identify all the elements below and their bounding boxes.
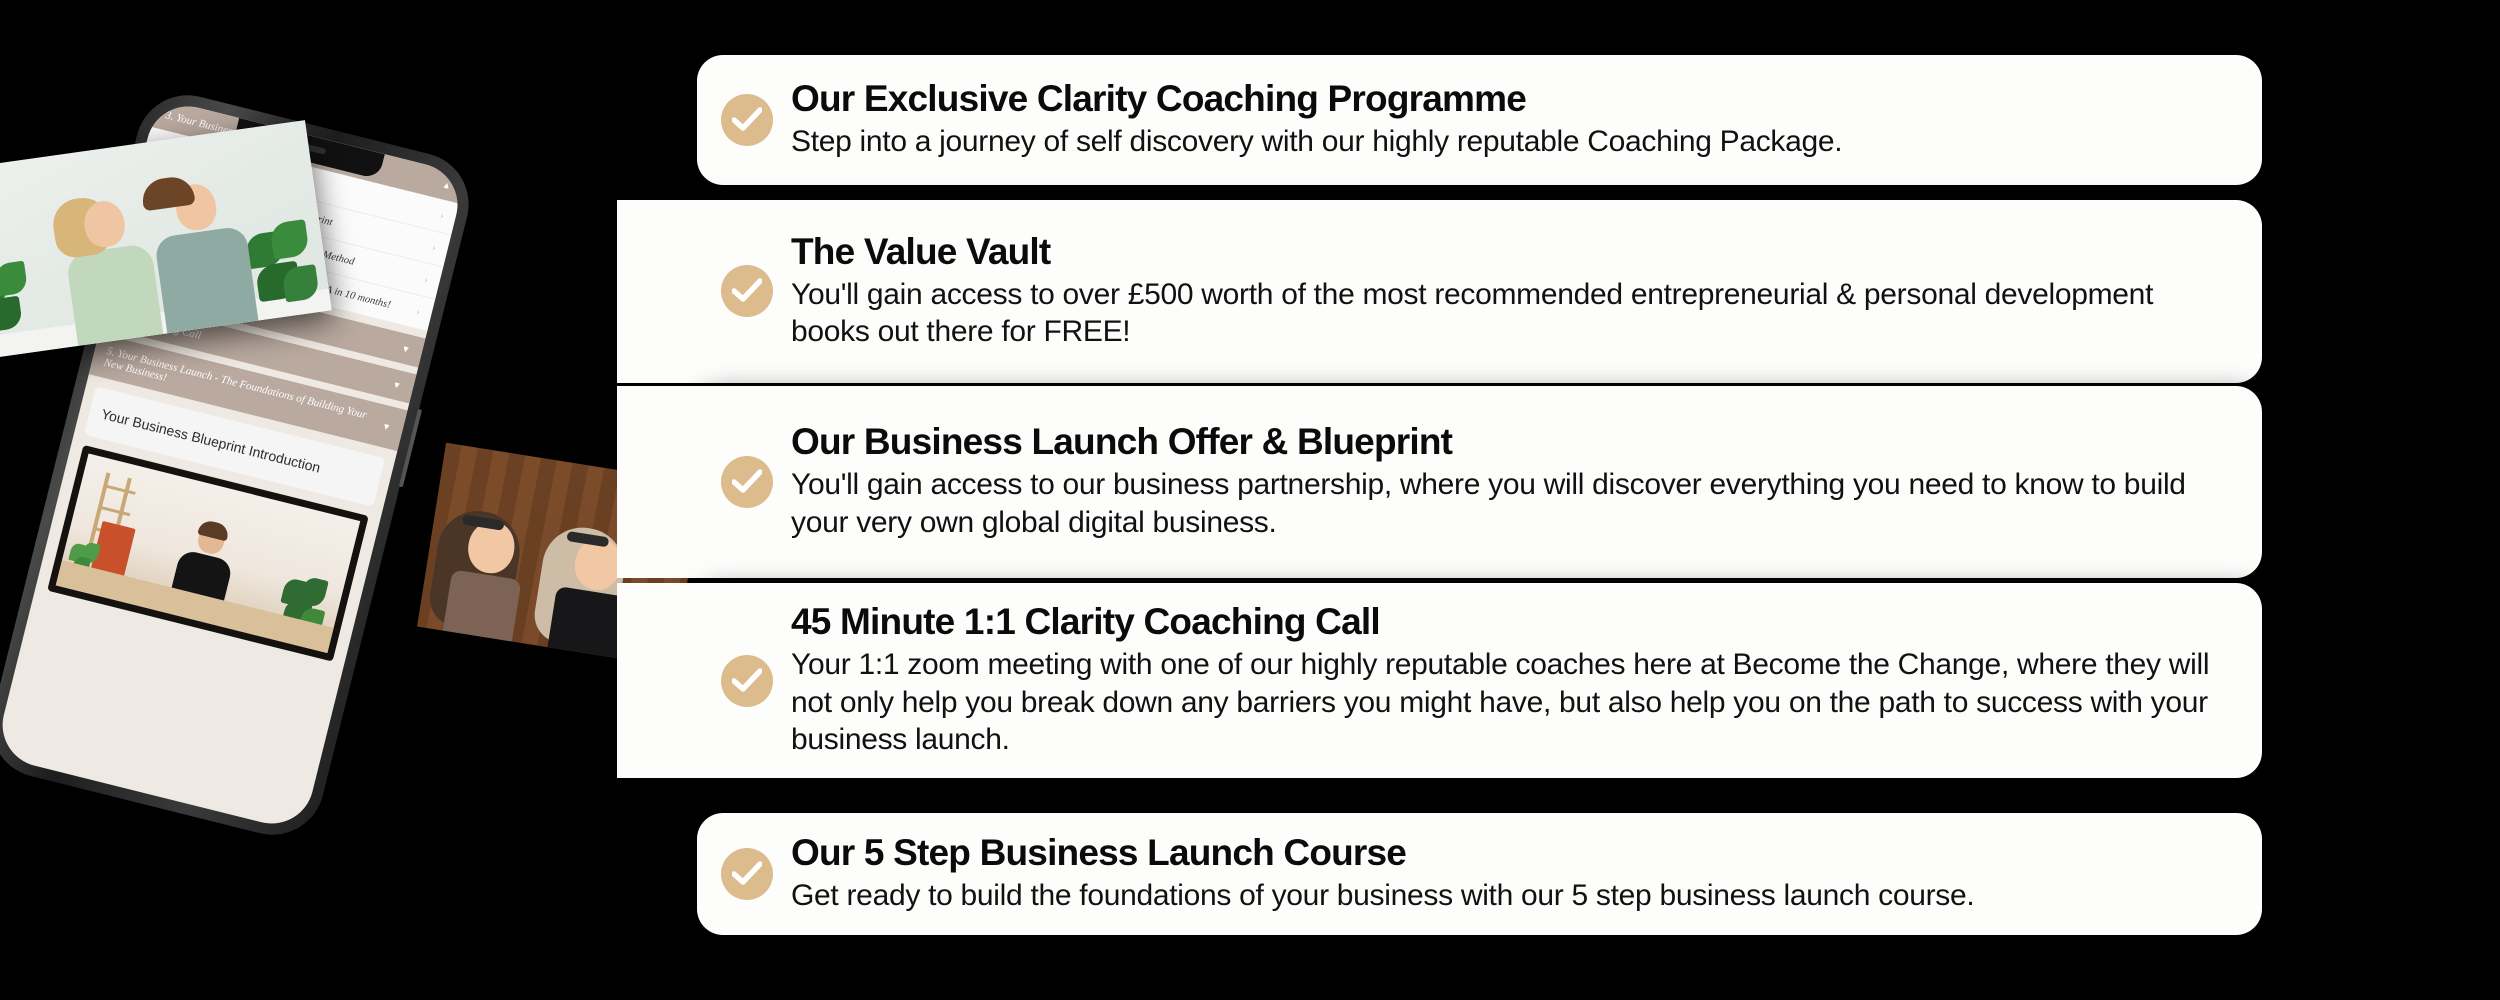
benefit-body: Get ready to build the foundations of yo… [791, 877, 1974, 915]
device-mockup-group: 3. Your Business Blueprint ▲ Introducing… [0, 0, 700, 1000]
benefit-card[interactable]: Our Business Launch Offer & Blueprint Yo… [697, 386, 2262, 578]
chevron-right-icon: › [439, 210, 445, 223]
benefit-title: The Value Vault [791, 232, 2232, 272]
check-circle-icon [721, 456, 773, 508]
check-circle-icon [721, 848, 773, 900]
plant-left-decor [0, 259, 50, 353]
benefit-title: Our Business Launch Offer & Blueprint [791, 422, 2232, 462]
presenter-woman-figure [59, 195, 164, 346]
caret-up-icon: ▲ [441, 179, 452, 191]
promo-composition: 3. Your Business Blueprint ▲ Introducing… [0, 0, 2500, 1000]
chevron-right-icon: › [423, 274, 429, 287]
benefit-title: Our 5 Step Business Launch Course [791, 833, 1974, 873]
benefit-body: You'll gain access to over £500 worth of… [791, 276, 2232, 352]
chevron-right-icon: › [431, 242, 437, 255]
caret-down-icon: ▼ [391, 379, 402, 391]
check-circle-icon [721, 655, 773, 707]
chevron-right-icon: › [415, 306, 421, 319]
check-circle-icon [721, 265, 773, 317]
benefit-card[interactable]: The Value Vault You'll gain access to ov… [697, 200, 2262, 383]
benefit-card[interactable]: Our 5 Step Business Launch Course Get re… [697, 813, 2262, 935]
benefit-title: Our Exclusive Clarity Coaching Programme [791, 79, 1842, 119]
caret-down-icon: ▼ [381, 421, 392, 433]
benefit-card[interactable]: 45 Minute 1:1 Clarity Coaching Call Your… [697, 583, 2262, 778]
caret-down-icon: ▼ [400, 343, 411, 355]
benefit-body: Your 1:1 zoom meeting with one of our hi… [791, 646, 2232, 759]
benefit-body: You'll gain access to our business partn… [791, 466, 2232, 542]
presenter-man-figure [147, 178, 258, 333]
benefit-card[interactable]: Our Exclusive Clarity Coaching Programme… [697, 55, 2262, 185]
benefit-body: Step into a journey of self discovery wi… [791, 123, 1842, 161]
benefit-title: 45 Minute 1:1 Clarity Coaching Call [791, 602, 2232, 642]
check-circle-icon [721, 94, 773, 146]
